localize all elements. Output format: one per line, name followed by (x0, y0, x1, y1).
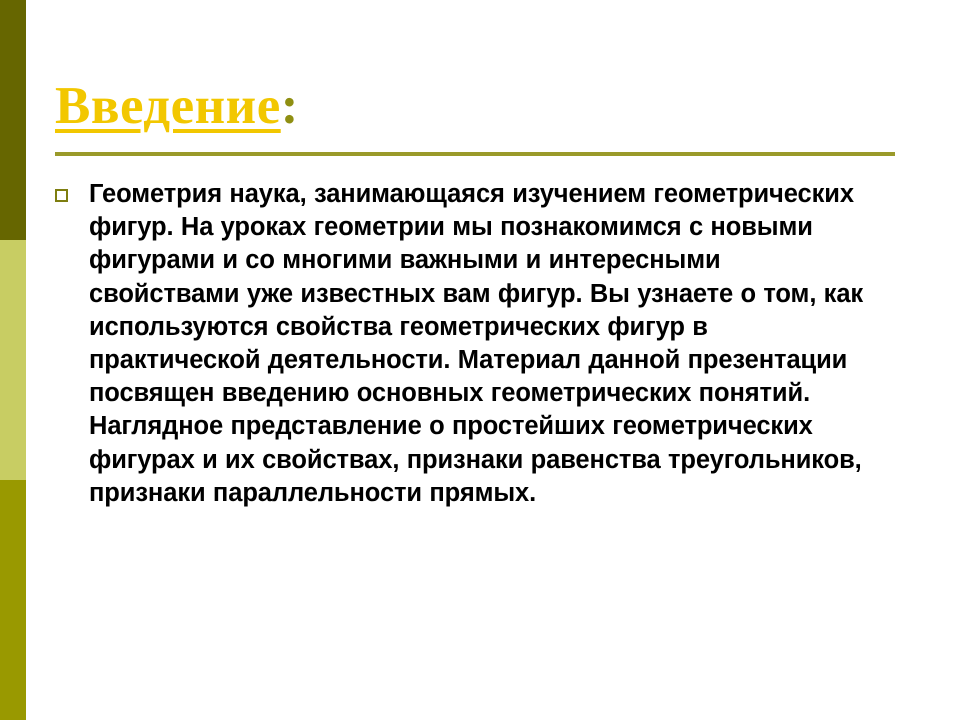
page-title-word: Введение (55, 77, 281, 135)
list-item: Геометрия наука, занимающаяся изучением … (55, 178, 900, 510)
presentation-slide: Введение: Геометрия наука, занимающаяся … (0, 0, 960, 720)
body-content: Геометрия наука, занимающаяся изучением … (55, 178, 900, 510)
title-area: Введение: (55, 78, 900, 135)
sidebar-band-bottom (0, 480, 26, 720)
sidebar-decoration (0, 0, 26, 720)
sidebar-band-top (0, 0, 26, 240)
title-divider (55, 152, 895, 156)
list-item-text: Геометрия наука, занимающаяся изучением … (89, 178, 864, 510)
sidebar-band-middle (0, 240, 26, 480)
page-title-colon: : (281, 77, 299, 135)
square-bullet-icon (55, 189, 68, 202)
page-title: Введение: (55, 78, 900, 135)
